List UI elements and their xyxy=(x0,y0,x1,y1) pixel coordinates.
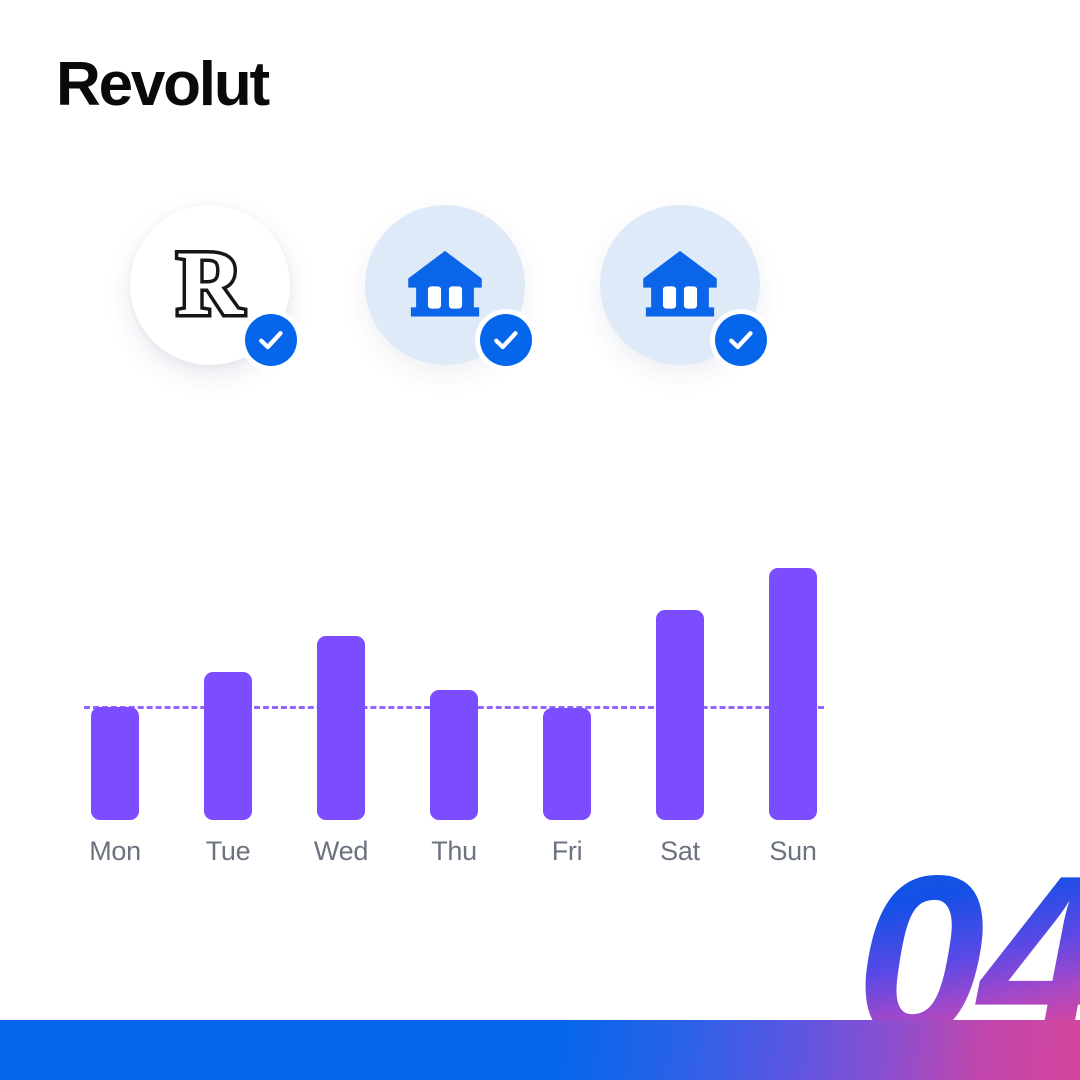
account-card-bank-1[interactable] xyxy=(365,205,525,365)
table-row[interactable] xyxy=(543,708,591,820)
bar-slot xyxy=(649,540,711,820)
chart-plot-area xyxy=(84,540,824,820)
bottom-gradient-bar xyxy=(0,1020,1080,1080)
table-row[interactable] xyxy=(430,690,478,820)
check-icon xyxy=(480,314,532,366)
chart-bars xyxy=(84,540,824,820)
chart-x-axis-labels: Mon Tue Wed Thu Fri Sat Sun xyxy=(84,836,824,867)
bar-slot xyxy=(423,540,485,820)
table-row[interactable] xyxy=(317,636,365,820)
weekly-activity-chart: Mon Tue Wed Thu Fri Sat Sun xyxy=(84,540,824,885)
verified-badge xyxy=(240,309,302,371)
bar-slot xyxy=(762,540,824,820)
axis-label-mon: Mon xyxy=(84,836,146,867)
verified-badge xyxy=(475,309,537,371)
account-card-revolut[interactable]: R xyxy=(130,205,290,365)
axis-label-wed: Wed xyxy=(310,836,372,867)
revolut-r-icon: R xyxy=(177,237,243,329)
bar-slot xyxy=(197,540,259,820)
bank-icon xyxy=(403,243,487,327)
axis-label-fri: Fri xyxy=(536,836,598,867)
check-icon xyxy=(245,314,297,366)
connected-accounts-row: R xyxy=(130,205,760,365)
axis-label-sun: Sun xyxy=(762,836,824,867)
axis-label-thu: Thu xyxy=(423,836,485,867)
verified-badge xyxy=(710,309,772,371)
table-row[interactable] xyxy=(204,672,252,820)
table-row[interactable] xyxy=(769,568,817,820)
revolut-wordmark: Revolut xyxy=(56,54,268,116)
promo-card: Revolut R xyxy=(0,0,1080,1080)
check-icon xyxy=(715,314,767,366)
axis-label-sat: Sat xyxy=(649,836,711,867)
bar-slot xyxy=(84,540,146,820)
bank-icon xyxy=(638,243,722,327)
bar-slot xyxy=(536,540,598,820)
axis-label-tue: Tue xyxy=(197,836,259,867)
bar-slot xyxy=(310,540,372,820)
table-row[interactable] xyxy=(656,610,704,820)
table-row[interactable] xyxy=(91,707,139,820)
account-card-bank-2[interactable] xyxy=(600,205,760,365)
